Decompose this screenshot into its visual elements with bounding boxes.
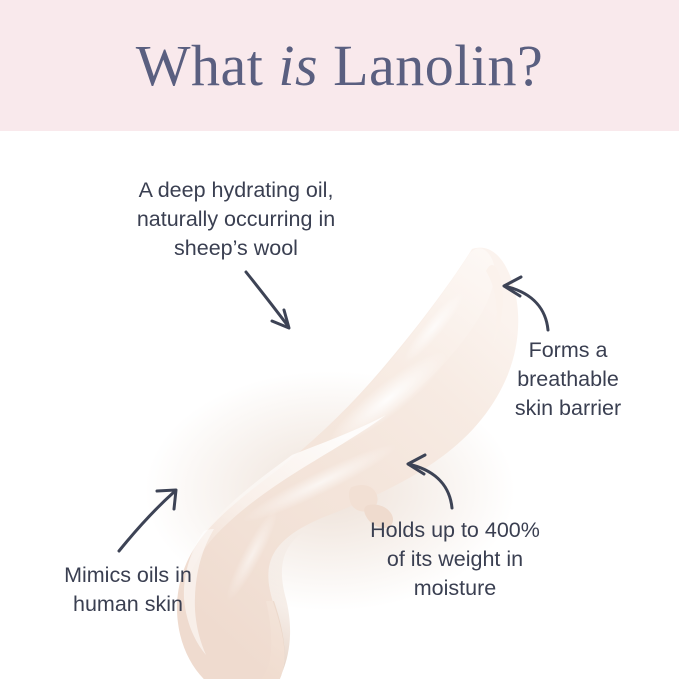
page-title-emphasis: is bbox=[278, 33, 318, 98]
page-title-suffix: Lanolin? bbox=[318, 33, 543, 98]
callout-breathable-barrier: Forms a breathable skin barrier bbox=[470, 336, 666, 423]
callout-deep-hydrating-oil: A deep hydrating oil, naturally occurrin… bbox=[86, 176, 386, 263]
header-band: What is Lanolin? bbox=[0, 0, 679, 131]
callout-holds-moisture: Holds up to 400% of its weight in moistu… bbox=[330, 516, 580, 603]
callout-mimics-skin-oils: Mimics oils in human skin bbox=[28, 561, 228, 619]
page-title: What is Lanolin? bbox=[136, 37, 543, 95]
page-title-prefix: What bbox=[136, 33, 279, 98]
infographic-canvas: What is Lanolin? bbox=[0, 0, 679, 679]
